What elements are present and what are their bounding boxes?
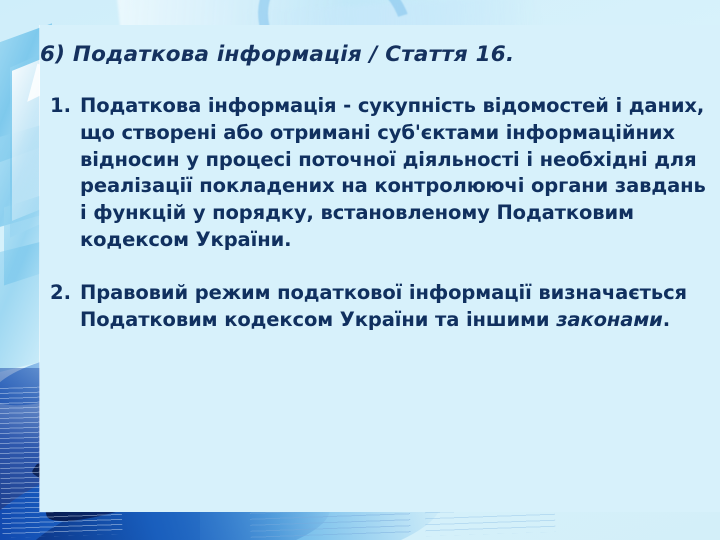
list-item-marker: 1.	[40, 93, 80, 120]
content-panel: 6) Податкова інформація / Стаття 16. 1. …	[40, 25, 720, 512]
slide-title: 6) Податкова інформація / Стаття 16.	[40, 43, 700, 67]
list-item: 1. Податкова інформація - сукупність від…	[40, 93, 712, 254]
left-shard-shape-5	[10, 52, 44, 237]
list-item-text-tail: .	[663, 308, 670, 331]
numbered-list: 1. Податкова інформація - сукупність від…	[40, 93, 712, 360]
slide-canvas: 6) Податкова інформація / Стаття 16. 1. …	[0, 0, 720, 540]
list-item-text-italic: законами	[556, 308, 663, 331]
list-item-marker: 2.	[40, 280, 80, 307]
list-item: 2. Правовий режим податкової інформації …	[40, 280, 712, 334]
list-item-text: Податкова інформація - сукупність відомо…	[80, 93, 712, 254]
list-item-text: Правовий режим податкової інформації виз…	[80, 280, 712, 334]
left-shard-shape-4	[0, 242, 40, 378]
